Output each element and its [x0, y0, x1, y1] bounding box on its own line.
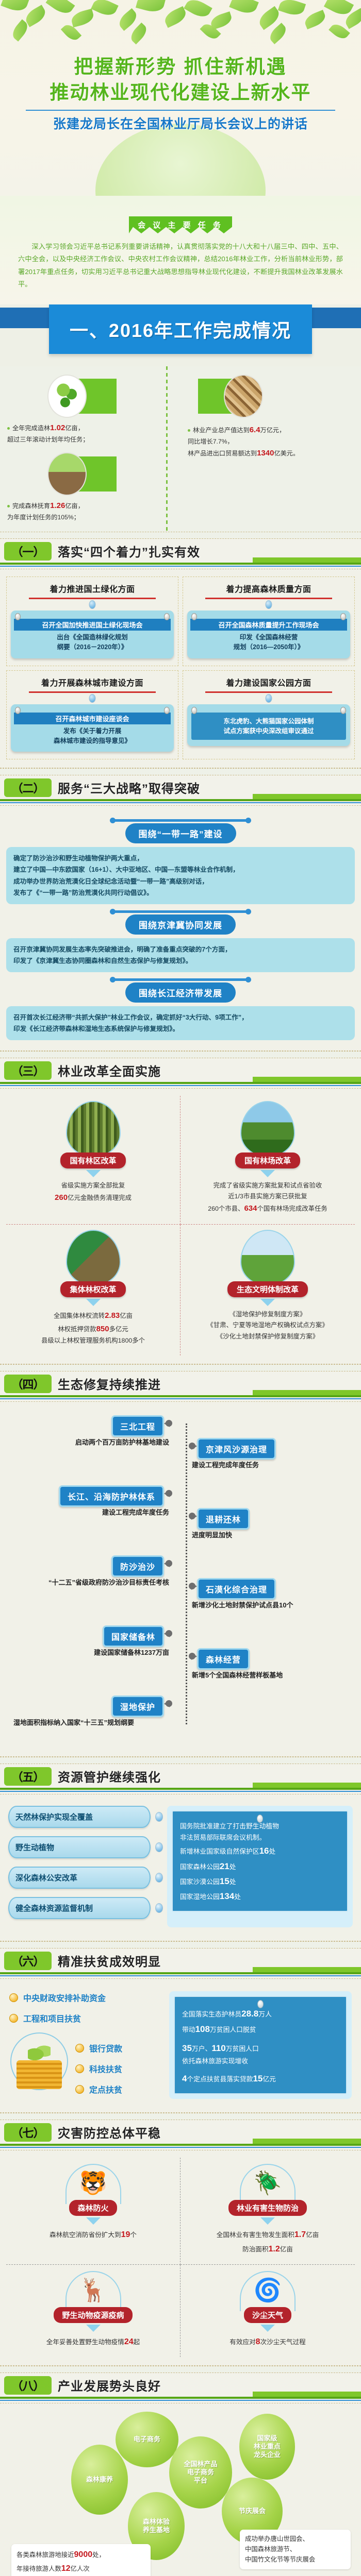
highlight-stats: 全年完成造林1.02亿亩， 超过三年滚动计划年均任务； 完成森林抚育1.26亿亩… — [0, 366, 361, 532]
strategy-pill: 围绕长江经济带发展 — [125, 982, 236, 1003]
poverty-sub-label: 银行贷款 — [89, 2042, 122, 2054]
section-body-8: 电子商务 国家级 林业重点 龙头企业 森林康养 全国林产品 电子商务 平台 节庆… — [0, 2403, 361, 2576]
reform-cell: 国有林场改革 完成了省级实施方案批复和试点省验收 近1/3市县实施方案已获批复 … — [180, 1096, 355, 1225]
bulb-icon — [89, 600, 96, 609]
forest-certificate-icon — [66, 1230, 121, 1285]
stat-text-tending: 完成森林抚育1.26亿亩， 为年度计划任务的105%； — [7, 500, 173, 523]
section-title-8: 产业发展势头良好 — [58, 2376, 161, 2394]
focus-card-text: 出台《全国造林绿化规划 纲要（2016－2020年）》 — [15, 633, 170, 652]
disaster-text: 森林航空消防省份扩大到19个 — [11, 2228, 175, 2242]
hero-title-line1: 把握新形势 抓住新机遇 — [0, 54, 361, 80]
eco-chip: 森林经营 — [197, 1648, 250, 1670]
stats-column-left: 全年完成造林1.02亿亩， 超过三年滚动计划年均任务； 完成森林抚育1.26亿亩… — [0, 375, 180, 523]
bead-icon — [9, 2014, 18, 2023]
section-header-2: （二） 服务“三大战略”取得突破 — [0, 775, 361, 805]
beetle-icon: 🪲 — [254, 2172, 282, 2195]
section-body-3: 国有林区改革 省级实施方案全部批复 260亿元金融债务清理完成 国有林场改革 完… — [0, 1088, 361, 1365]
eco-marker-icon — [184, 1442, 197, 1450]
poverty-sub-label: 科技扶贫 — [89, 2062, 122, 2075]
screw-icon — [191, 707, 197, 714]
hero-subtitle: 张建龙局长在全国林业厅局长会议上的讲话 — [0, 114, 361, 132]
logs-icon — [224, 375, 263, 418]
list-item: 科技扶贫 — [75, 2062, 122, 2075]
disaster-tag: 野生动物疫源疫病 — [54, 2307, 132, 2323]
list-item: 中央财政安排补助资金 — [9, 1991, 164, 2004]
disaster-tag: 沙尘天气 — [244, 2307, 291, 2323]
section-header-4: （四） 生态修复持续推进 — [0, 1371, 361, 1401]
section-header-7: （七） 灾害防控总体平稳 — [0, 2120, 361, 2150]
tiger-mascot-icon: 🐯 — [79, 2172, 107, 2195]
seedling-icon — [47, 452, 87, 496]
section-body-6: 中央财政安排补助资金 工程和项目扶贫 银行贷款 — [0, 1978, 361, 2113]
list-item: 野生动植物 — [8, 1836, 163, 1858]
leaf-border-decoration — [0, 0, 361, 54]
disaster-text: 有效应对8次沙尘天气过程 — [186, 2335, 350, 2349]
trees-icon — [47, 375, 87, 418]
sprout-icon — [28, 2044, 51, 2061]
coins-illustration: 银行贷款 科技扶贫 定点扶贫 — [9, 2032, 164, 2093]
reform-text: 省级实施方案全部批复 260亿元金融债务清理完成 — [12, 1180, 174, 1205]
hero-header: 把握新形势 抓住新机遇 推动林业现代化建设上新水平 张建龙局长在全国林业厅局长会… — [0, 0, 361, 196]
infographic-page: 把握新形势 抓住新机遇 推动林业现代化建设上新水平 张建龙局长在全国林业厅局长会… — [0, 0, 361, 2576]
bead-icon — [9, 1993, 18, 2002]
section-header-3: （三） 林业改革全面实施 — [0, 1058, 361, 1088]
focus-card-heading: 着力开展森林城市建设方面 — [11, 676, 174, 688]
poverty-sub-label: 定点扶贫 — [89, 2083, 122, 2095]
main-banner: 一、2016年工作完成情况 — [49, 304, 312, 354]
eco-marker-icon — [164, 1700, 177, 1708]
resource-pill: 健全森林资源监督机制 — [8, 1897, 151, 1919]
section-number-1: （一） — [4, 542, 52, 561]
bulb-icon — [155, 1873, 163, 1883]
hero-divider — [26, 110, 335, 111]
bulb-icon — [257, 2000, 264, 2008]
main-banner-wrap: 一、2016年工作完成情况 — [0, 304, 361, 366]
strategy-box: 召开京津冀协同发展生态率先突破推进会，明确了准备重点突破的7个方面， 印发了《京… — [6, 938, 355, 972]
eco-chip: 长江、沿海防护林体系 — [59, 1485, 164, 1507]
eco-chip: 湿地保护 — [111, 1696, 164, 1717]
main-banner-title: 一、2016年工作完成情况 — [70, 316, 291, 343]
section-title-7: 灾害防控总体平稳 — [58, 2123, 161, 2141]
eco-chip: 京津风沙源治理 — [197, 1438, 276, 1460]
eco-diagram: 三北工程 启动两个百万亩防护林基地建设 京津风沙源治理 建设工程完成年度任务 长… — [6, 1409, 355, 1748]
bulb-icon — [155, 1903, 163, 1913]
eco-marker-icon — [164, 1630, 177, 1638]
section-title-1: 落实“四个着力”扎实有效 — [58, 542, 200, 560]
stats-column-right: 林业产业总产值达到6.4万亿元， 同比增长7.7%， 林产品进出口贸易额达到13… — [180, 375, 361, 523]
disaster-tag: 森林防火 — [69, 2200, 117, 2216]
focus-card-heading: 着力提高森林质量方面 — [187, 582, 350, 595]
focus-card: 着力推进国土绿化方面 召开全国加快推进国土绿化现场会 出台《全国造林绿化规划 纲… — [6, 577, 178, 666]
stat-text-afforestation: 全年完成造林1.02亿亩， 超过三年滚动计划年均任务； — [7, 422, 173, 445]
eco-chip: 退耕还林 — [197, 1508, 250, 1530]
list-item: 健全森林资源监督机制 — [8, 1897, 163, 1919]
focus-card-text: 发布《关于着力开展 森林城市建设的指导意见》 — [15, 726, 170, 746]
focus-card-heading: 着力推进国土绿化方面 — [11, 582, 174, 595]
list-item: 深化森林公安改革 — [8, 1867, 163, 1889]
reform-cell: 生态文明体制改革 《湿地保护修复制度方案》 《甘肃、宁夏等地湿地产权确权试点方案… — [180, 1225, 355, 1355]
bead-icon — [75, 2044, 84, 2053]
section-number-3: （三） — [4, 1061, 52, 1080]
eco-marker-icon — [184, 1652, 197, 1660]
section-title-6: 精准扶贫成效明显 — [58, 1952, 161, 1970]
balloon: 全国林产品 电子商务 平台 — [169, 2436, 232, 2509]
bulb-icon — [155, 1812, 163, 1822]
section-body-4: 三北工程 启动两个百万亩防护林基地建设 京津风沙源治理 建设工程完成年度任务 长… — [0, 1401, 361, 1757]
meeting-tasks-ribbon: 会 议 主 要 任 务 — [129, 216, 232, 233]
meeting-tasks-section: 会 议 主 要 任 务 深入学习领会习近平总书记系列重要讲话精神，认真贯彻落实党… — [0, 196, 361, 304]
eco-marker-icon — [164, 1489, 177, 1498]
section-body-7: 🐯 森林防火 森林航空消防省份扩大到19个 🪲 林业有害生物防治 全国林业有害生… — [0, 2150, 361, 2366]
bulb-icon — [266, 694, 272, 703]
eco-caption: 建设工程完成年度任务 — [192, 1460, 259, 1469]
list-item: 银行贷款 — [75, 2042, 122, 2054]
eco-caption: 新增5个全国森林经营样板基地 — [192, 1670, 283, 1680]
reform-tag: 国有林区改革 — [60, 1153, 125, 1168]
list-item: 工程和项目扶贫 — [9, 2012, 164, 2024]
reform-tag: 生态文明体制改革 — [227, 1281, 308, 1297]
eco-chip: 石漠化综合治理 — [197, 1578, 276, 1600]
eco-chip: 防沙治沙 — [111, 1555, 164, 1577]
balloon-cluster: 电子商务 国家级 林业重点 龙头企业 森林康养 全国林产品 电子商务 平台 节庆… — [6, 2411, 355, 2576]
disaster-tag: 林业有害生物防治 — [228, 2200, 307, 2216]
strategy-box: 召开首次长江经济带“共抓大保护”林业工作会议，确定抓好“3大行动、9项工作”， … — [6, 1006, 355, 1040]
poverty-panel: 全国落实生态护林员28.8万人 带动108万贫困人口脱贫 35万户、110万贫困… — [174, 1996, 347, 2094]
focus-card-highlight: 召开全国森林质量提升工作现场会 — [190, 619, 347, 631]
bulb-icon — [257, 1815, 263, 1823]
section-title-5: 资源管护继续强化 — [58, 1767, 161, 1785]
focus-card: 着力建设国家公园方面 东北虎豹、大熊猫国家公园体制 试点方案获中央深改组审议通过 — [183, 670, 355, 760]
resource-pill-list: 天然林保护实现全覆盖 野生动植物 深化森林公安改革 健全森林资源监督机制 — [8, 1806, 163, 1927]
forest-photo-icon — [66, 1101, 121, 1157]
list-item: 天然林保护实现全覆盖 — [8, 1806, 163, 1828]
bulb-icon — [155, 1842, 163, 1852]
eco-marker-icon — [184, 1582, 197, 1590]
bead-icon — [75, 2085, 84, 2094]
section-number-4: （四） — [4, 1375, 52, 1393]
section-title-3: 林业改革全面实施 — [58, 1061, 161, 1079]
section-header-5: （五） 资源管护继续强化 — [0, 1764, 361, 1794]
stat-badge-industry — [188, 375, 354, 419]
eco-caption: 进度明显加快 — [192, 1530, 232, 1539]
list-item: 定点扶贫 — [75, 2083, 122, 2095]
meeting-tasks-body: 深入学习领会习近平总书记系列重要讲话精神，认真贯彻落实党的十八大和十八届三中、四… — [18, 241, 343, 291]
section-title-4: 生态修复持续推进 — [58, 1375, 161, 1393]
resource-panel: 国务院批准建立了打击野生动植物 非法贸易部际联席会议机制。 新增林业国家级自然保… — [172, 1810, 348, 1912]
section-header-6: （六） 精准扶贫成效明显 — [0, 1948, 361, 1978]
focus-card-text: 东北虎豹、大熊猫国家公园体制 试点方案获中央深改组审议通过 — [191, 713, 346, 740]
disaster-cell: 🪲 林业有害生物防治 全国林业有害生物发生面积1.7亿亩防治面积1.2亿亩 — [180, 2158, 355, 2264]
section-number-5: （五） — [4, 1767, 52, 1786]
screw-icon — [15, 707, 21, 714]
hero-title-line2: 推动林业现代化建设上新水平 — [0, 80, 361, 106]
section-title-2: 服务“三大战略”取得突破 — [58, 778, 200, 796]
section-number-7: （七） — [4, 2123, 52, 2142]
balloon: 森林康养 — [71, 2445, 128, 2515]
balloon: 国家级 林业重点 龙头企业 — [239, 2414, 295, 2480]
disaster-text: 全年妥善处置野生动物疫情24起 — [11, 2335, 175, 2349]
section-number-2: （二） — [4, 778, 52, 797]
eco-chip: 国家储备林 — [103, 1625, 164, 1647]
screw-icon — [164, 707, 170, 714]
stat-text-industry: 林业产业总产值达到6.4万亿元， 同比增长7.7%， 林产品进出口贸易额达到13… — [188, 422, 354, 460]
eco-marker-icon — [184, 1512, 197, 1520]
eco-chip: 三北工程 — [111, 1415, 164, 1437]
section-number-8: （八） — [4, 2376, 52, 2395]
section-body-1: 着力推进国土绿化方面 召开全国加快推进国土绿化现场会 出台《全国造林绿化规划 纲… — [0, 569, 361, 768]
eco-caption: 新增沙化土地封禁保护试点县10个 — [192, 1600, 293, 1609]
bulb-icon — [266, 600, 272, 609]
focus-card-highlight: 召开森林城市建设座谈会 — [14, 713, 171, 724]
balloon: 电子商务 — [116, 2412, 178, 2467]
section-header-8: （八） 产业发展势头良好 — [0, 2373, 361, 2403]
reform-tag: 国有林场改革 — [235, 1153, 300, 1168]
eco-caption: 湿地面积指标纳入国家“十三五”规划纲要 — [13, 1717, 134, 1727]
focus-card-highlight: 召开全国加快推进国土绿化现场会 — [14, 619, 171, 631]
screw-icon — [340, 707, 346, 714]
disaster-text: 全国林业有害生物发生面积1.7亿亩防治面积1.2亿亩 — [186, 2228, 350, 2256]
section-number-6: （六） — [4, 1952, 52, 1970]
resource-pill: 天然林保护实现全覆盖 — [8, 1806, 151, 1828]
resource-pill: 野生动植物 — [8, 1836, 151, 1858]
section-body-5: 天然林保护实现全覆盖 野生动植物 深化森林公安改革 健全森林资源监督机制 — [0, 1794, 361, 1941]
disaster-cell: 🐯 森林防火 森林航空消防省份扩大到19个 — [6, 2158, 180, 2264]
bulb-icon — [89, 694, 96, 703]
section-body-2: 围绕“一带一路”建设 确定了防沙治沙和野生动植物保护两大重点， 建立了中国—中东… — [0, 805, 361, 1050]
reform-cell: 集体林权改革 全国集体林权流转2.83亿亩 林权抵押贷款850多亿元 县级以上林… — [6, 1225, 180, 1355]
globe-decoration — [95, 124, 266, 196]
strategy-pill: 围绕“一带一路”建设 — [125, 823, 236, 843]
focus-card: 着力开展森林城市建设方面 召开森林城市建设座谈会 发布《关于着力开展 森林城市建… — [6, 670, 178, 760]
deer-icon: 🦌 — [79, 2279, 107, 2302]
reform-cell: 国有林区改革 省级实施方案全部批复 260亿元金融债务清理完成 — [6, 1096, 180, 1225]
reform-text: 《湿地保护修复制度方案》 《甘肃、宁夏等地湿地产权确权试点方案》 《沙化土地封禁… — [187, 1309, 349, 1342]
disaster-cell: 🌀 沙尘天气 有效应对8次沙尘天气过程 — [180, 2265, 355, 2357]
strategy-pill: 围绕京津冀协同发展 — [125, 914, 236, 935]
focus-card-heading: 着力建设国家公园方面 — [187, 676, 350, 688]
section-header-1: （一） 落实“四个着力”扎实有效 — [0, 539, 361, 569]
reform-tag: 集体林权改革 — [60, 1281, 125, 1297]
poverty-item-label: 工程和项目扶贫 — [23, 2012, 81, 2024]
forest-photo-icon — [240, 1101, 295, 1157]
focus-card: 着力提高森林质量方面 召开全国森林质量提升工作现场会 印发《全国森林经营 规划（… — [183, 577, 355, 666]
hero-title-block: 把握新形势 抓住新机遇 推动林业现代化建设上新水平 张建龙局长在全国林业厅局长会… — [0, 54, 361, 132]
bead-icon — [75, 2064, 84, 2073]
resource-pill: 深化森林公安改革 — [8, 1867, 151, 1889]
reform-text: 完成了省级实施方案批复和试点省验收 近1/3市县实施方案已获批复 260个市县、… — [187, 1180, 349, 1215]
mountain-photo-icon — [240, 1230, 295, 1285]
focus-card-text: 印发《全国森林经营 规划（2016—2050年）》 — [191, 633, 346, 652]
eco-marker-icon — [164, 1419, 177, 1428]
coins-icon — [17, 2060, 62, 2089]
stat-badge-tending — [7, 452, 173, 497]
reform-text: 全国集体林权流转2.83亿亩 林权抵押贷款850多亿元 县级以上林权管理服务机构… — [12, 1309, 174, 1346]
eco-marker-icon — [164, 1560, 177, 1568]
disaster-cell: 🦌 野生动物疫源疫病 全年妥善处置野生动物疫情24起 — [6, 2265, 180, 2357]
stat-badge-afforestation — [7, 375, 173, 419]
balloon-note: 各类森林旅游地接近9000处，年接待旅游人数12亿人次 — [11, 2544, 151, 2576]
strategy-box: 确定了防沙治沙和野生动植物保护两大重点， 建立了中国—中东欧国家（16+1）、大… — [6, 847, 355, 904]
balloon-note: 成功举办唐山世园会、 中国森林旅游节、 中国竹文化节等节庆展会 — [240, 2530, 351, 2569]
sandstorm-icon: 🌀 — [254, 2279, 282, 2302]
poverty-item-label: 中央财政安排补助资金 — [23, 1991, 106, 2004]
